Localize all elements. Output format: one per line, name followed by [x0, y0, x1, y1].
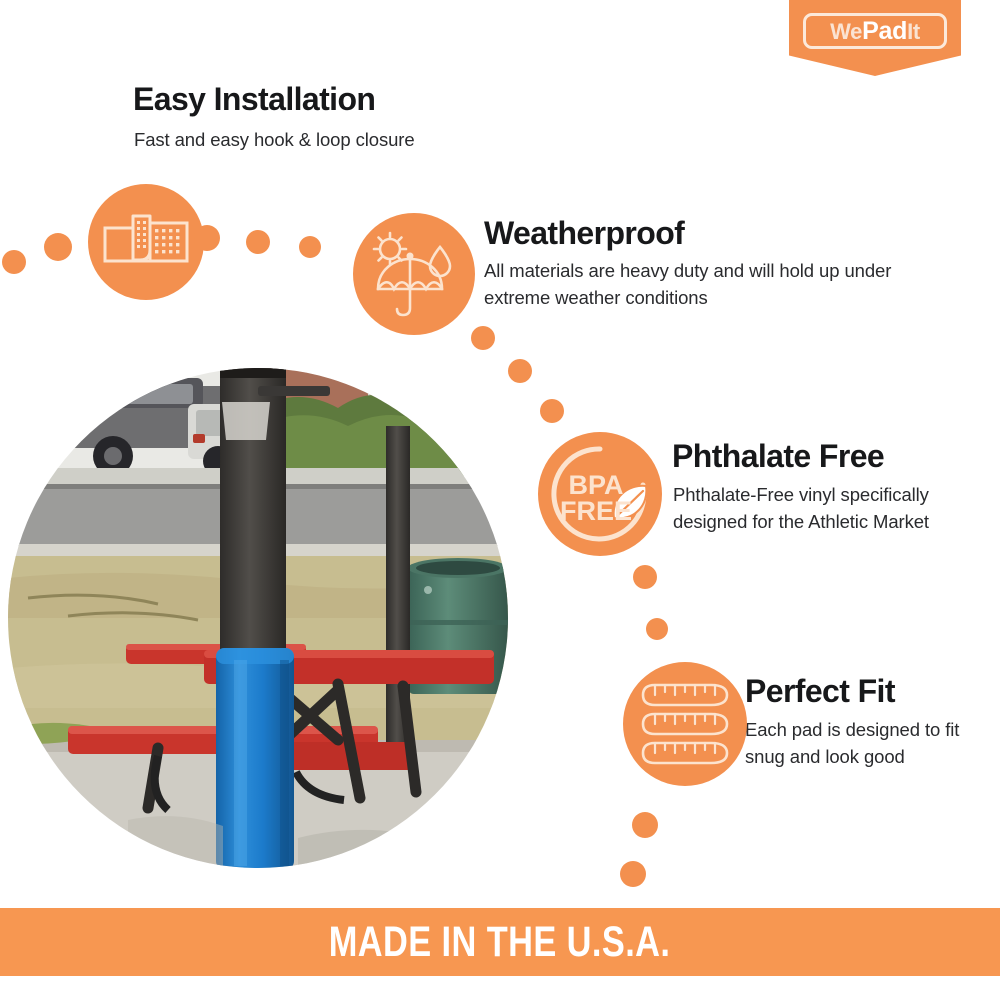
bpa-label-line2: FREE: [560, 496, 632, 526]
logo-text-we: We: [830, 19, 862, 44]
trail-dot: [44, 233, 72, 261]
brand-logo-text: WePadIt: [830, 19, 920, 44]
trail-dot: [471, 326, 495, 350]
logo-text-pad: Pad: [862, 17, 907, 45]
trail-dot: [508, 359, 532, 383]
brand-logo-outline: WePadIt: [803, 13, 947, 49]
feature-title-easy-installation: Easy Installation: [133, 81, 375, 118]
hook-and-loop-icon: [103, 206, 189, 278]
product-feature-infographic: WePadIt Easy Installation Fast and easy …: [0, 0, 1000, 987]
product-photo: [8, 368, 508, 868]
feature-title-weatherproof: Weatherproof: [484, 215, 684, 252]
feature-title-phthalate-free: Phthalate Free: [672, 438, 884, 475]
trail-dot: [646, 618, 668, 640]
bpa-free-icon-circle: BPA FREE: [538, 432, 662, 556]
sun-umbrella-raindrop-icon: [368, 230, 460, 318]
made-in-usa-banner: MADE IN THE U.S.A.: [0, 908, 1000, 976]
park-pole-pad-photo: [8, 368, 508, 868]
feature-body-phthalate-free: Phthalate-Free vinyl specifically design…: [673, 481, 943, 535]
trail-dot: [299, 236, 321, 258]
trail-dot: [632, 812, 658, 838]
perfect-fit-icon-circle: [623, 662, 747, 786]
brand-logo-banner: WePadIt: [789, 0, 961, 76]
trail-dot: [2, 250, 26, 274]
feature-title-perfect-fit: Perfect Fit: [745, 673, 895, 710]
feature-body-weatherproof: All materials are heavy duty and will ho…: [484, 257, 914, 311]
feature-body-perfect-fit: Each pad is designed to fit snug and loo…: [745, 716, 985, 770]
trail-dot: [540, 399, 564, 423]
weatherproof-icon-circle: [353, 213, 475, 335]
trail-dot: [246, 230, 270, 254]
trail-dot: [194, 225, 220, 251]
trail-dot: [633, 565, 657, 589]
trail-dot: [620, 861, 646, 887]
measuring-tape-icon: [637, 677, 733, 771]
feature-body-easy-installation: Fast and easy hook & loop closure: [134, 126, 554, 153]
made-in-usa-text: MADE IN THE U.S.A.: [329, 918, 671, 967]
bpa-free-leaf-icon: BPA FREE: [548, 442, 652, 546]
hook-and-loop-icon-circle: [88, 184, 204, 300]
logo-text-it: It: [907, 19, 920, 44]
